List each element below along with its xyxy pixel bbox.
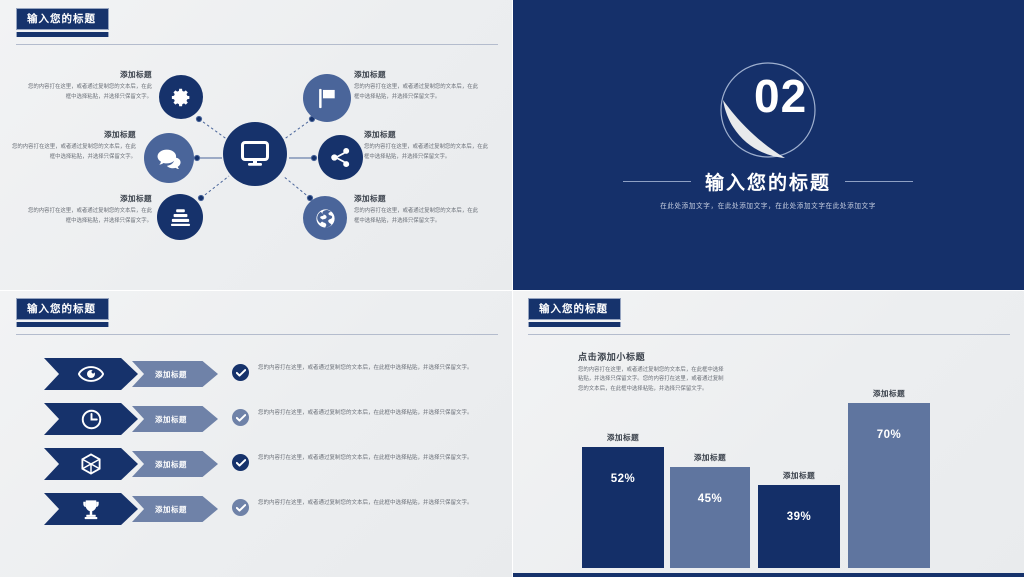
slide-separator-vertical [512, 0, 513, 577]
bar-group: 添加标题 52% 添加标题 45% 添加标题 39% [582, 358, 962, 568]
hub-text-server: 添加标题 您的内容打在这里，或者通过复制您的文本后，在此框中选择粘贴，并选择只保… [28, 192, 152, 226]
cube-icon-glyph [80, 453, 102, 475]
list-item-label: 添加标题 [132, 361, 218, 387]
list-item-description: 您的内容打在这里，或者通过复制您的文本后，在此框中选择粘贴，并选择只保留文字。 [232, 408, 508, 426]
list-item-text: 您的内容打在这里，或者通过复制您的文本后，在此框中选择粘贴，并选择只保留文字。 [258, 453, 473, 463]
section-title-row: 输入您的标题 [512, 168, 1024, 195]
bar-label: 添加标题 [694, 452, 726, 463]
trophy-icon[interactable] [44, 493, 138, 525]
check-icon-glyph [236, 369, 246, 377]
clock-icon-glyph [81, 409, 102, 430]
check-icon-glyph [236, 414, 246, 422]
list-item-text: 您的内容打在这里，或者通过复制您的文本后，在此框中选择粘贴，并选择只保留文字。 [258, 408, 473, 418]
bar-value: 45% [698, 493, 723, 505]
hub-body: 您的内容打在这里，或者通过复制您的文本后，在此框中选择粘贴，并选择只保留文字。 [354, 83, 478, 102]
check-circle-icon [232, 364, 249, 381]
check-circle-icon [232, 499, 249, 516]
list-item-text: 您的内容打在这里，或者通过复制您的文本后，在此框中选择粘贴，并选择只保留文字。 [258, 498, 473, 508]
server-stack-icon-glyph [170, 208, 191, 227]
hub-body: 您的内容打在这里，或者通过复制您的文本后，在此框中选择粘贴，并选择只保留文字。 [354, 207, 478, 226]
bar-item[interactable]: 添加标题 39% [758, 470, 840, 568]
bar-label: 添加标题 [873, 388, 905, 399]
bar-rect[interactable]: 70% [848, 403, 930, 568]
cube-icon[interactable] [44, 448, 138, 480]
check-circle-icon [232, 409, 249, 426]
globe-icon[interactable] [303, 196, 347, 240]
list-item-description: 您的内容打在这里，或者通过复制您的文本后，在此框中选择粘贴，并选择只保留文字。 [232, 453, 508, 471]
bar-label: 添加标题 [607, 432, 639, 443]
bar-item[interactable]: 添加标题 70% [848, 388, 930, 568]
section-number: 02 [754, 73, 807, 119]
section-header-bar [16, 322, 109, 327]
server-stack-icon[interactable] [157, 194, 203, 240]
bar-label: 添加标题 [783, 470, 815, 481]
hub-title: 添加标题 [364, 128, 488, 141]
list-item-label: 添加标题 [132, 496, 218, 522]
flag-icon[interactable] [303, 74, 351, 122]
bar-rect[interactable]: 52% [582, 447, 664, 568]
share-icon-glyph [330, 147, 351, 168]
list-item-text: 您的内容打在这里，或者通过复制您的文本后，在此框中选择粘贴，并选择只保留文字。 [258, 363, 473, 373]
hub-title: 添加标题 [354, 192, 478, 205]
bar-rect[interactable]: 39% [758, 485, 840, 568]
bar-rect[interactable]: 45% [670, 467, 750, 568]
list-item-label: 添加标题 [132, 451, 218, 477]
flag-icon-glyph [317, 88, 337, 109]
hub-title: 添加标题 [28, 68, 152, 81]
slide-chevron-list: 输入您的标题 添加标题 [0, 290, 512, 577]
section-header-label: 输入您的标题 [16, 298, 109, 320]
bar-chart: 点击添加小标题 您的内容打在这里，或者通过复制您的文本后，在此框中选择粘贴，并选… [512, 290, 1024, 577]
slide-separator-horizontal [0, 290, 1024, 291]
hub-text-flag: 添加标题 您的内容打在这里，或者通过复制您的文本后，在此框中选择粘贴，并选择只保… [354, 68, 478, 102]
hub-title: 添加标题 [354, 68, 478, 81]
title-rule-left [623, 181, 691, 182]
gear-icon-glyph [171, 87, 192, 108]
check-icon-glyph [236, 504, 246, 512]
hub-title: 添加标题 [28, 192, 152, 205]
bar-value: 70% [877, 429, 902, 441]
bar-item[interactable]: 添加标题 52% [582, 432, 664, 568]
gear-icon[interactable] [159, 75, 203, 119]
list-item-label: 添加标题 [132, 406, 218, 432]
globe-icon-glyph [315, 208, 336, 229]
bar-value: 39% [787, 511, 812, 523]
hub-text-globe: 添加标题 您的内容打在这里，或者通过复制您的文本后，在此框中选择粘贴，并选择只保… [354, 192, 478, 226]
monitor-icon-glyph [241, 141, 269, 167]
bar-value: 52% [611, 473, 636, 485]
slide-bar-chart: 输入您的标题 点击添加小标题 您的内容打在这里，或者通过复制您的文本后，在此框中… [512, 290, 1024, 577]
list-item-description: 您的内容打在这里，或者通过复制您的文本后，在此框中选择粘贴，并选择只保留文字。 [232, 498, 508, 516]
hub-diagram: 添加标题 您的内容打在这里，或者通过复制您的文本后，在此框中选择粘贴，并选择只保… [0, 0, 512, 290]
monitor-icon[interactable] [223, 122, 287, 186]
title-rule-right [845, 181, 913, 182]
hub-body: 您的内容打在这里，或者通过复制您的文本后，在此框中选择粘贴，并选择只保留文字。 [12, 143, 136, 162]
chat-bubble-icon-glyph [157, 148, 182, 169]
hub-body: 您的内容打在这里，或者通过复制您的文本后，在此框中选择粘贴，并选择只保留文字。 [28, 83, 152, 102]
chat-bubble-icon[interactable] [144, 133, 194, 183]
section-subtitle: 在此处添加文字，在此处添加文字，在此处添加文字在此处添加文字 [512, 200, 1024, 210]
trophy-icon-glyph [81, 499, 101, 520]
eye-icon[interactable] [44, 358, 138, 390]
check-circle-icon [232, 454, 249, 471]
hub-text-share: 添加标题 您的内容打在这里，或者通过复制您的文本后，在此框中选择粘贴，并选择只保… [364, 128, 488, 162]
share-icon[interactable] [318, 135, 363, 180]
slide-section-divider: 02 输入您的标题 在此处添加文字，在此处添加文字，在此处添加文字在此处添加文字 [512, 0, 1024, 290]
slide-deck: 输入您的标题 [0, 0, 1024, 577]
hub-body: 您的内容打在这里，或者通过复制您的文本后，在此框中选择粘贴，并选择只保留文字。 [28, 207, 152, 226]
bottom-accent-strip [512, 573, 1024, 577]
list-item-description: 您的内容打在这里，或者通过复制您的文本后，在此框中选择粘贴，并选择只保留文字。 [232, 363, 508, 381]
header-divider [16, 334, 498, 335]
hub-text-chat: 添加标题 您的内容打在这里，或者通过复制您的文本后，在此框中选择粘贴，并选择只保… [12, 128, 136, 162]
hub-text-gear: 添加标题 您的内容打在这里，或者通过复制您的文本后，在此框中选择粘贴，并选择只保… [28, 68, 152, 102]
bar-item[interactable]: 添加标题 45% [670, 452, 750, 568]
check-icon-glyph [236, 459, 246, 467]
eye-icon-glyph [78, 366, 104, 382]
hub-title: 添加标题 [12, 128, 136, 141]
slide-hub-diagram: 输入您的标题 [0, 0, 512, 290]
section-title: 输入您的标题 [705, 168, 831, 195]
section-header: 输入您的标题 [16, 298, 109, 327]
hub-body: 您的内容打在这里，或者通过复制您的文本后，在此框中选择粘贴，并选择只保留文字。 [364, 143, 488, 162]
clock-icon[interactable] [44, 403, 138, 435]
